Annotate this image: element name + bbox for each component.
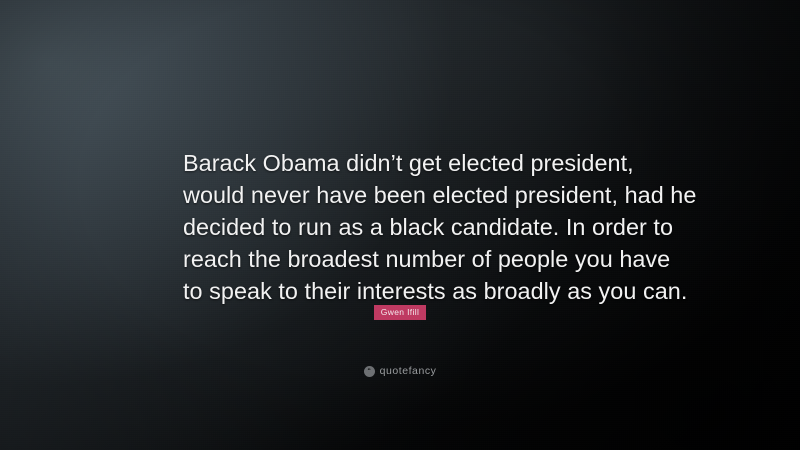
watermark-label: quotefancy bbox=[380, 365, 437, 377]
quote-line-1: Barack Obama didn’t get elected presiden… bbox=[183, 147, 709, 179]
site-watermark[interactable]: “ quotefancy bbox=[0, 365, 800, 377]
author-attribution: Gwen Ifill bbox=[0, 302, 800, 320]
quote-poster: Barack Obama didn’t get elected presiden… bbox=[0, 0, 800, 450]
quote-line-4: reach the broadest number of people you … bbox=[183, 243, 709, 275]
poster-content: Barack Obama didn’t get elected presiden… bbox=[0, 0, 800, 450]
quote-text: Barack Obama didn’t get elected presiden… bbox=[183, 147, 709, 307]
quote-line-2: would never have been elected president,… bbox=[183, 179, 709, 211]
quote-line-3: decided to run as a black candidate. In … bbox=[183, 211, 709, 243]
quote-mark-icon: “ bbox=[364, 366, 375, 377]
author-name-badge[interactable]: Gwen Ifill bbox=[374, 305, 426, 320]
